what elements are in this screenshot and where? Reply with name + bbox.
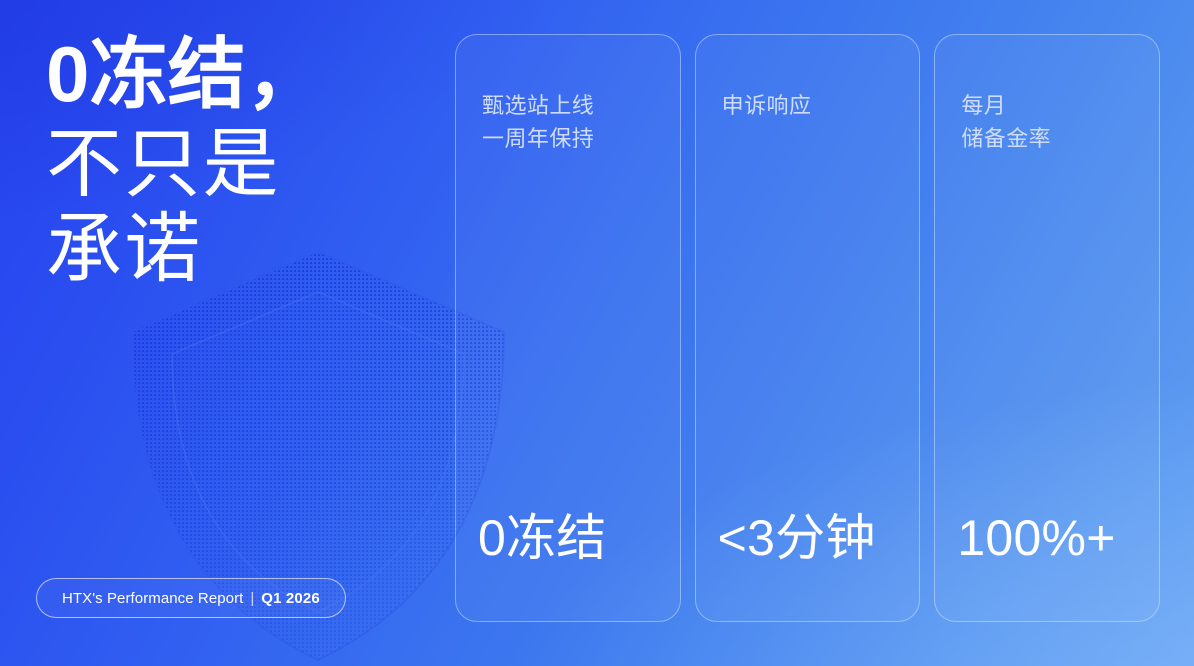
headline-line-3: 承诺	[46, 207, 466, 292]
badge-title: HTX's Performance Report	[62, 590, 243, 607]
stat-card-label-line-2: 储备金率	[961, 122, 1133, 155]
stat-card-list: 甄选站上线 一周年保持 0冻结 申诉响应 <3分钟 每月 储备金率 100%+	[455, 34, 1160, 622]
stat-card-label-line-1: 申诉响应	[722, 93, 812, 118]
stat-card-label-line-2: 一周年保持	[482, 122, 654, 155]
poster-canvas: 0冻结， 不只是 承诺 HTX's Performance Report | Q…	[0, 0, 1194, 666]
report-badge: HTX's Performance Report | Q1 2026	[36, 578, 346, 618]
stat-card-value: 100%+	[935, 511, 1159, 565]
headline: 0冻结， 不只是 承诺	[46, 34, 466, 292]
stat-card-label-line-1: 每月	[961, 93, 1006, 118]
stat-card[interactable]: 申诉响应 <3分钟	[695, 34, 921, 622]
headline-line-2: 不只是	[46, 122, 466, 207]
stat-card-value: 0冻结	[456, 511, 680, 565]
stat-card[interactable]: 每月 储备金率 100%+	[934, 34, 1160, 622]
badge-period: Q1 2026	[261, 590, 320, 607]
stat-card-label-line-1: 甄选站上线	[482, 93, 594, 118]
badge-separator: |	[250, 590, 254, 607]
stat-card-value: <3分钟	[696, 511, 920, 565]
stat-card-label: 甄选站上线 一周年保持	[456, 89, 680, 156]
stat-card-label: 每月 储备金率	[935, 89, 1159, 156]
headline-line-1: 0冻结，	[46, 34, 466, 116]
stat-card[interactable]: 甄选站上线 一周年保持 0冻结	[455, 34, 681, 622]
stat-card-label: 申诉响应	[696, 89, 920, 122]
